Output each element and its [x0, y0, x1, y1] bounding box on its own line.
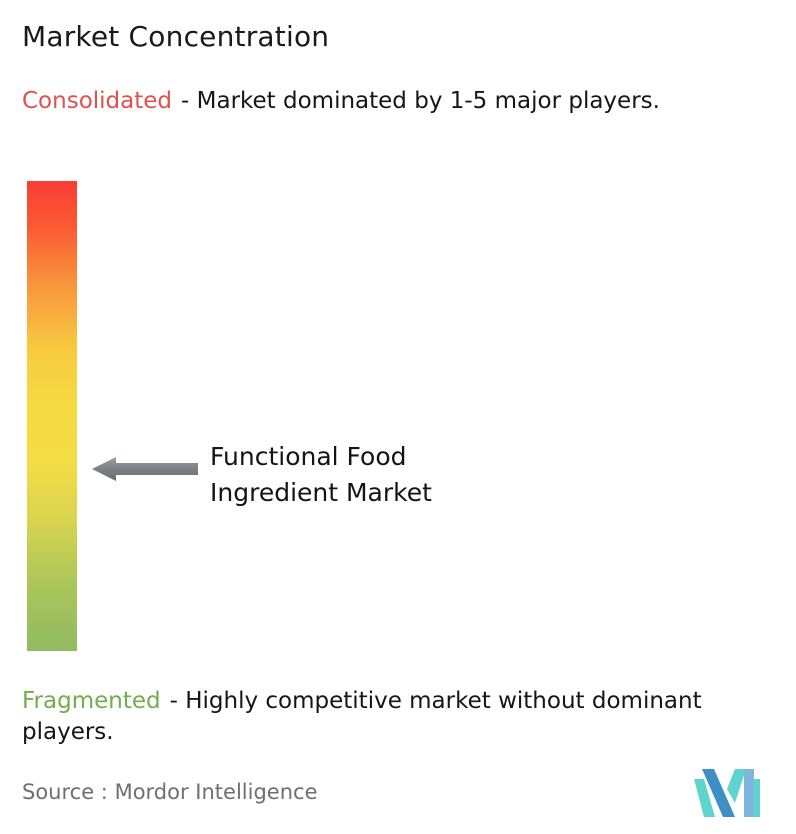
source-attribution: Source : Mordor Intelligence: [22, 778, 317, 806]
source-name: Mordor Intelligence: [115, 780, 318, 804]
legend-tag-consolidated: Consolidated: [22, 88, 172, 114]
mordor-intelligence-logo-icon: [694, 765, 760, 817]
legend-consolidated: Consolidated- Market dominated by 1-5 ma…: [22, 86, 778, 117]
concentration-scale-bar: [27, 181, 77, 651]
market-label-line-1: Functional Food: [210, 439, 432, 475]
source-label: Source :: [22, 780, 108, 804]
left-arrow-icon: [92, 457, 198, 481]
market-label-line-2: Ingredient Market: [210, 475, 432, 511]
legend-description-consolidated: - Market dominated by 1-5 major players.: [181, 88, 660, 114]
market-pointer-arrow: [92, 455, 198, 483]
legend-tag-fragmented: Fragmented: [22, 688, 161, 714]
market-label: Functional Food Ingredient Market: [210, 439, 432, 511]
legend-fragmented: Fragmented- Highly competitive market wi…: [22, 686, 782, 748]
page-title: Market Concentration: [22, 20, 329, 54]
